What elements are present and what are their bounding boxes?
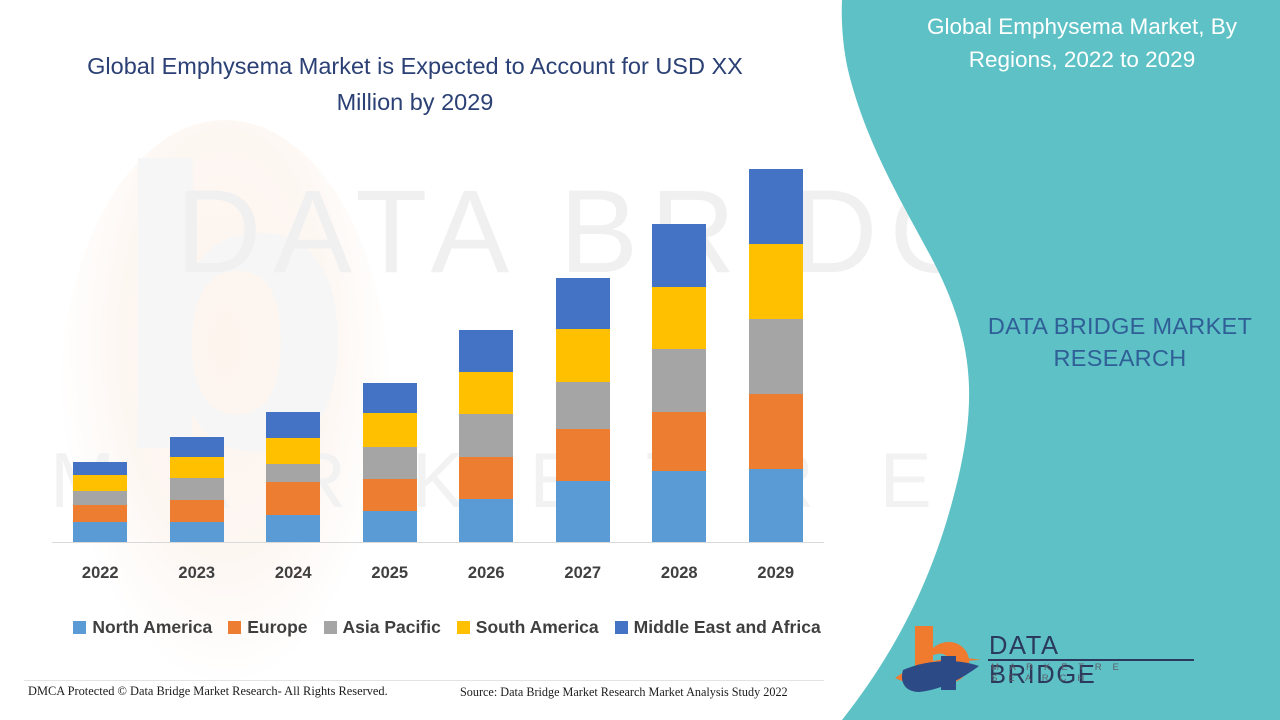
bar-column <box>245 150 342 542</box>
bar-segment <box>749 169 803 244</box>
stacked-bar <box>459 330 513 542</box>
x-axis-label: 2023 <box>149 564 246 583</box>
bar-segment <box>459 330 513 372</box>
dmca-notice: DMCA Protected © Data Bridge Market Rese… <box>28 684 388 699</box>
chart-legend: North AmericaEuropeAsia PacificSouth Ame… <box>52 617 842 638</box>
bar-segment <box>170 457 224 478</box>
x-axis-label: 2027 <box>535 564 632 583</box>
bar-segment <box>73 522 127 542</box>
x-axis-label: 2022 <box>52 564 149 583</box>
bar-segment <box>266 515 320 542</box>
legend-swatch-icon <box>73 621 86 634</box>
bar-segment <box>73 505 127 522</box>
bar-segment <box>749 469 803 542</box>
bar-segment <box>749 394 803 469</box>
bar-segment <box>363 413 417 447</box>
bar-segment <box>363 511 417 542</box>
stacked-bar <box>266 412 320 543</box>
bar-segment <box>556 382 610 429</box>
bar-segment <box>459 499 513 542</box>
bar-segment <box>266 438 320 465</box>
bar-segment <box>73 491 127 505</box>
bar-segment <box>266 482 320 515</box>
bar-segment <box>652 471 706 542</box>
bar-segment <box>73 462 127 474</box>
legend-swatch-icon <box>324 621 337 634</box>
stacked-bar <box>73 462 127 542</box>
bar-segment <box>556 278 610 330</box>
stacked-bar <box>363 383 417 542</box>
legend-label: South America <box>476 617 599 638</box>
bar-group <box>52 150 824 542</box>
legend-swatch-icon <box>457 621 470 634</box>
chart-plot-area <box>52 150 824 552</box>
bar-segment <box>170 500 224 522</box>
bar-segment <box>749 244 803 319</box>
logo-stem <box>941 656 956 690</box>
legend-item[interactable]: Asia Pacific <box>324 617 441 638</box>
stacked-bar <box>170 437 224 542</box>
bar-column <box>535 150 632 542</box>
legend-item[interactable]: Middle East and Africa <box>615 617 821 638</box>
legend-label: Middle East and Africa <box>634 617 821 638</box>
legend-swatch-icon <box>615 621 628 634</box>
bar-segment <box>266 412 320 438</box>
bar-segment <box>170 437 224 457</box>
legend-item[interactable]: Europe <box>228 617 307 638</box>
stacked-bar <box>749 169 803 542</box>
stacked-bar <box>556 278 610 542</box>
stacked-bar <box>652 224 706 543</box>
x-axis-label: 2024 <box>245 564 342 583</box>
x-axis-label: 2025 <box>342 564 439 583</box>
company-logo: DATA BRIDGE M A R K E T R E S E A R C H <box>893 618 1128 696</box>
brand-name: DATA BRIDGE MARKET RESEARCH <box>960 310 1280 374</box>
bar-segment <box>363 383 417 413</box>
bar-segment <box>459 457 513 499</box>
legend-label: Asia Pacific <box>343 617 441 638</box>
bar-segment <box>459 372 513 414</box>
stacked-bar-chart <box>52 150 824 562</box>
bar-segment <box>363 447 417 479</box>
legend-label: Europe <box>247 617 307 638</box>
logo-underline <box>988 659 1194 661</box>
x-axis-label: 2028 <box>631 564 728 583</box>
logo-swoosh-blue <box>902 661 979 692</box>
bar-segment <box>652 287 706 349</box>
bar-segment <box>652 224 706 288</box>
bar-segment <box>749 319 803 394</box>
bar-column <box>438 150 535 542</box>
bar-column <box>631 150 728 542</box>
bar-segment <box>459 414 513 457</box>
bar-segment <box>170 478 224 500</box>
bar-segment <box>652 412 706 471</box>
legend-item[interactable]: South America <box>457 617 599 638</box>
bar-segment <box>266 464 320 482</box>
bar-segment <box>73 475 127 491</box>
x-axis-label: 2026 <box>438 564 535 583</box>
legend-swatch-icon <box>228 621 241 634</box>
bar-segment <box>363 479 417 511</box>
x-axis-line <box>52 542 824 543</box>
bar-segment <box>556 429 610 481</box>
bar-column <box>52 150 149 542</box>
bar-segment <box>556 481 610 542</box>
source-note: Source: Data Bridge Market Research Mark… <box>460 685 788 700</box>
x-axis-labels: 20222023202420252026202720282029 <box>52 564 824 583</box>
legend-label: North America <box>92 617 212 638</box>
infographic-root: b DATA BRIDGE M A R K E T R E S E A R C … <box>0 0 1280 720</box>
bar-column <box>342 150 439 542</box>
panel-title: Global Emphysema Market, By Regions, 202… <box>898 10 1266 76</box>
page-title: Global Emphysema Market is Expected to A… <box>55 48 775 120</box>
footer-divider <box>24 680 824 681</box>
logo-tagline: M A R K E T R E S E A R C H <box>991 662 1128 684</box>
bar-column <box>149 150 246 542</box>
legend-item[interactable]: North America <box>73 617 212 638</box>
bar-segment <box>170 522 224 542</box>
bar-segment <box>652 349 706 412</box>
bar-segment <box>556 329 610 382</box>
